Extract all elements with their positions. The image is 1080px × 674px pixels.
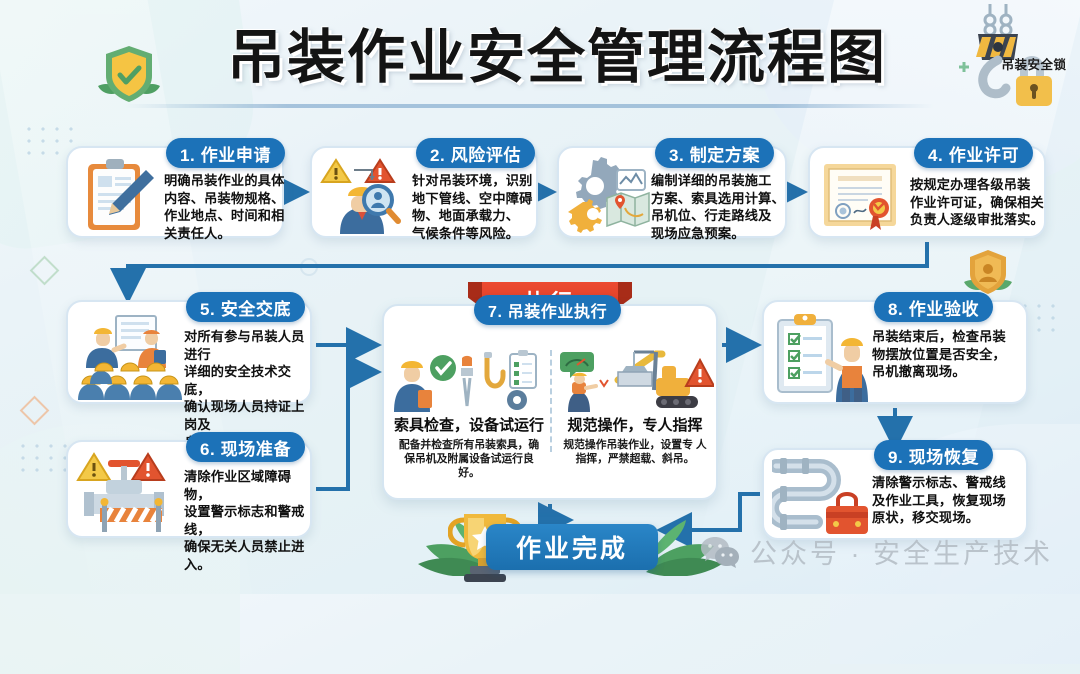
step-pill-1: 1. 作业申请: [166, 138, 285, 168]
step-desc-8: 吊装结束后，检查吊装 物摆放位置是否安全， 吊机撤离现场。: [872, 328, 1024, 381]
wechat-icon: [700, 535, 740, 569]
step-pill-3: 3. 制定方案: [655, 138, 774, 168]
safety-badge-icon: [960, 248, 1016, 298]
briefing-crowd-icon: [76, 310, 184, 400]
page-title: 吊装作业安全管理流程图: [202, 22, 912, 94]
step-card-2[interactable]: 2. 风险评估 针对吊装环境，识别 地下管线、空中障碍 物、地面承载力、 气候条…: [310, 146, 538, 238]
lock-label: 吊装安全锁: [992, 54, 1076, 73]
circle-decoration: [300, 258, 318, 276]
checklist-inspector-icon: [772, 310, 876, 402]
step-desc-1: 明确吊装作业的具体 内容、吊装物规格、 作业地点、时间和相 关责任人。: [164, 172, 288, 242]
step-card-5[interactable]: 5. 安全交底 对所有参与吊装人员进行 详细的安全技术交底， 确认现场人员持证上…: [66, 300, 312, 404]
execution-column-1: 索具检查，设备试运行 配备并检查所有吊装索具，确 保吊机及附属设备试运行良好。: [390, 350, 548, 480]
step-pill-5: 5. 安全交底: [186, 292, 305, 322]
watermark: 公众号 · 安全生产技术: [700, 532, 1053, 571]
step-pill-8: 8. 作业验收: [874, 292, 993, 322]
step-card-9[interactable]: 9. 现场恢复 清除警示标志、警戒线 及作业工具，恢复现场 原状，移交现场。: [762, 448, 1028, 540]
clipboard-pen-icon: [76, 156, 160, 234]
execution-panel[interactable]: 7. 吊装作业执行: [382, 304, 718, 500]
step-card-1[interactable]: 1. 作业申请 明确吊装作业的具体 内容、吊装物规格、 作业地点、时间和相 关责…: [66, 146, 284, 238]
execution-divider: [550, 350, 552, 452]
step-desc-9: 清除警示标志、警戒线 及作业工具，恢复现场 原状，移交现场。: [872, 474, 1024, 527]
gears-map-icon: [567, 156, 651, 234]
shield-check-icon: [92, 42, 166, 108]
step-pill-6: 6. 现场准备: [186, 432, 305, 462]
crane-operation-icon: [556, 350, 714, 412]
barrier-valve-warning-icon: [76, 450, 184, 534]
watermark-text: 公众号 · 安全生产技术: [750, 532, 1053, 571]
rigging-inspection-icon: [390, 350, 548, 412]
execution-column-2-title: 规范操作，专人指挥: [556, 414, 714, 435]
step-desc-4: 按规定办理各级吊装 作业许可证，确保相关 负责人逐级审批落实。: [910, 176, 1046, 229]
finish-banner: 作业完成: [486, 524, 658, 570]
step-desc-6: 清除作业区域障碍物， 设置警示标志和警戒线， 确保无关人员禁止进入。: [184, 468, 312, 574]
step-card-4[interactable]: 4. 作业许可 按规定办理各级吊装 作业许可证，确保相关 负责人逐级审批落实。: [808, 146, 1046, 238]
step-desc-3: 编制详细的吊装施工 方案、索具选用计算、 吊机位、行走路线及 现场应急预案。: [651, 172, 789, 242]
execution-column-1-desc: 配备并检查所有吊装索具，确 保吊机及附属设备试运行良好。: [390, 438, 548, 480]
step-pill-7: 7. 吊装作业执行: [474, 295, 621, 325]
diamond-decoration: [30, 256, 60, 286]
execution-column-2: 规范操作，专人指挥 规范操作吊装作业，设置专 人指挥，严禁超载、斜吊。: [556, 350, 714, 466]
header: 吊装作业安全管理流程图 吊装安全锁: [0, 0, 1080, 118]
diamond-decoration: [20, 396, 50, 426]
step-desc-2: 针对吊装环境，识别 地下管线、空中障碍 物、地面承载力、 气候条件等风险。: [412, 172, 540, 242]
pipes-toolbox-icon: [772, 458, 876, 538]
execution-column-2-desc: 规范操作吊装作业，设置专 人指挥，严禁超载、斜吊。: [556, 438, 714, 466]
step-pill-2: 2. 风险评估: [416, 138, 535, 168]
infographic-canvas: 吊装作业安全管理流程图 吊装安全锁: [0, 0, 1080, 594]
step-card-3[interactable]: 3. 制定方案 编制详细的吊装施工 方案、索具选用计算、 吊机位、行走路线及 现…: [557, 146, 787, 238]
step-card-8[interactable]: 8. 作业验收 吊装结束后，检查吊装 物摆放位置是否安全， 吊机撤离现场。: [762, 300, 1028, 404]
step-pill-9: 9. 现场恢复: [874, 440, 993, 470]
worker-magnifier-warning-icon: [320, 156, 404, 234]
execution-column-1-title: 索具检查，设备试运行: [390, 414, 548, 435]
step-card-6[interactable]: 6. 现场准备 清除作业区域障碍物， 设置警示标志和警戒线， 确保无关人员禁止进…: [66, 440, 312, 538]
step-pill-4: 4. 作业许可: [914, 138, 1033, 168]
title-underline: [124, 104, 934, 108]
certificate-seal-icon: [818, 156, 902, 234]
